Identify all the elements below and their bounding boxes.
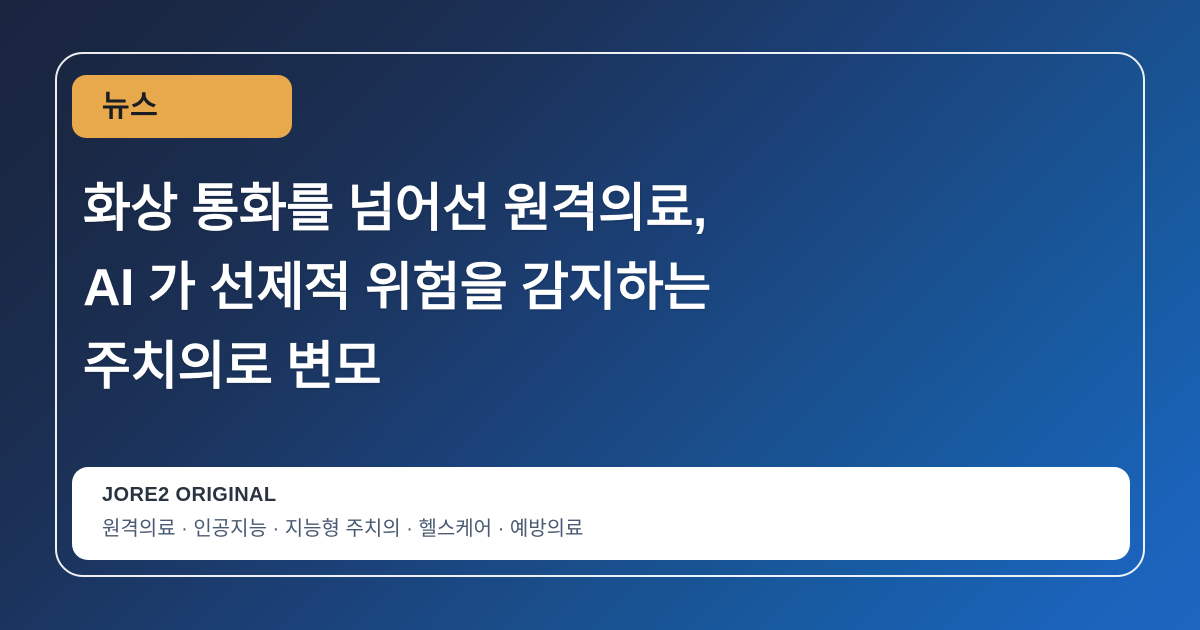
headline-line-3: 주치의로 변모: [83, 328, 1093, 407]
source-label: JORE2 ORIGINAL: [102, 481, 1130, 509]
card-content: 뉴스 화상 통화를 넘어선 원격의료, AI 가 선제적 위험을 감지하는 주치…: [55, 52, 1145, 577]
headline: 화상 통화를 넘어선 원격의료, AI 가 선제적 위험을 감지하는 주치의로 …: [83, 170, 1093, 407]
footer-info-card: JORE2 ORIGINAL 원격의료 · 인공지능 · 지능형 주치의 · 헬…: [72, 467, 1130, 560]
headline-line-1: 화상 통화를 넘어선 원격의료,: [83, 170, 1093, 249]
share-card-canvas: 뉴스 화상 통화를 넘어선 원격의료, AI 가 선제적 위험을 감지하는 주치…: [0, 0, 1200, 630]
category-badge[interactable]: 뉴스: [72, 75, 292, 138]
headline-line-2: AI 가 선제적 위험을 감지하는: [83, 249, 1093, 328]
category-badge-label: 뉴스: [102, 92, 158, 122]
tag-list: 원격의료 · 인공지능 · 지능형 주치의 · 헬스케어 · 예방의료: [102, 515, 1130, 543]
